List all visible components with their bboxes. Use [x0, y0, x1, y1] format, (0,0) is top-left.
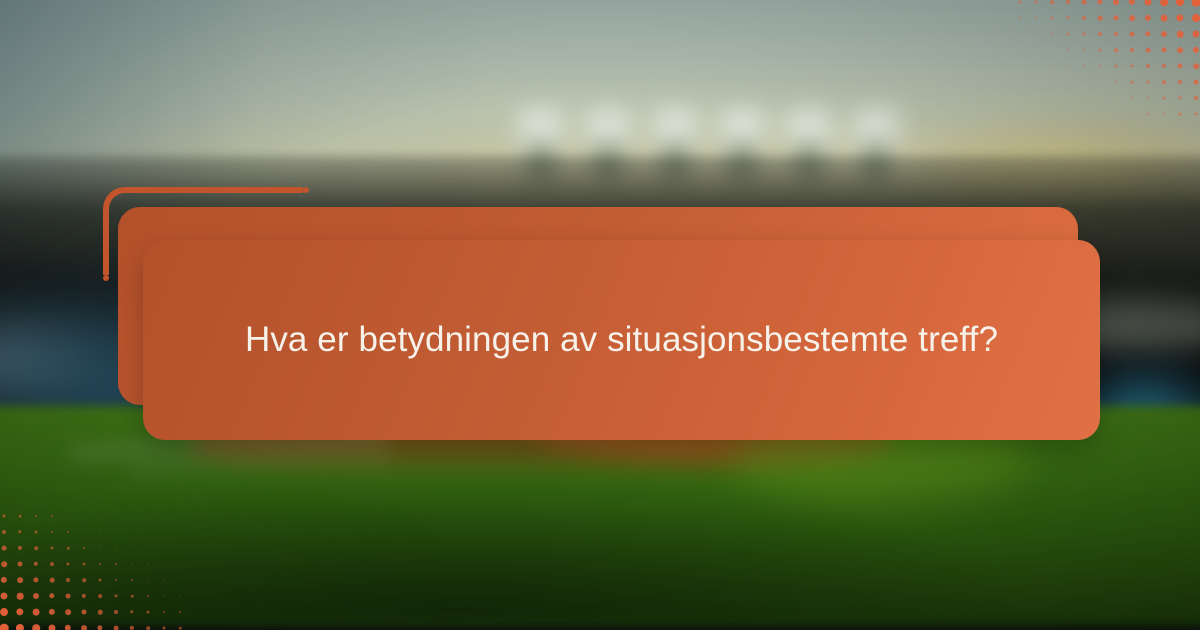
- stadium-light-tower: [518, 108, 564, 150]
- social-card-canvas: Hva er betydningen av situasjonsbestemte…: [0, 0, 1200, 630]
- stadium-light-tower: [853, 108, 899, 150]
- question-card: Hva er betydningen av situasjonsbestemte…: [143, 240, 1100, 440]
- stadium-light-tower: [585, 108, 631, 150]
- question-text: Hva er betydningen av situasjonsbestemte…: [242, 315, 1002, 365]
- stadium-light-tower: [786, 108, 832, 150]
- stadium-light-tower: [719, 108, 765, 150]
- stadium-light-tower: [652, 108, 698, 150]
